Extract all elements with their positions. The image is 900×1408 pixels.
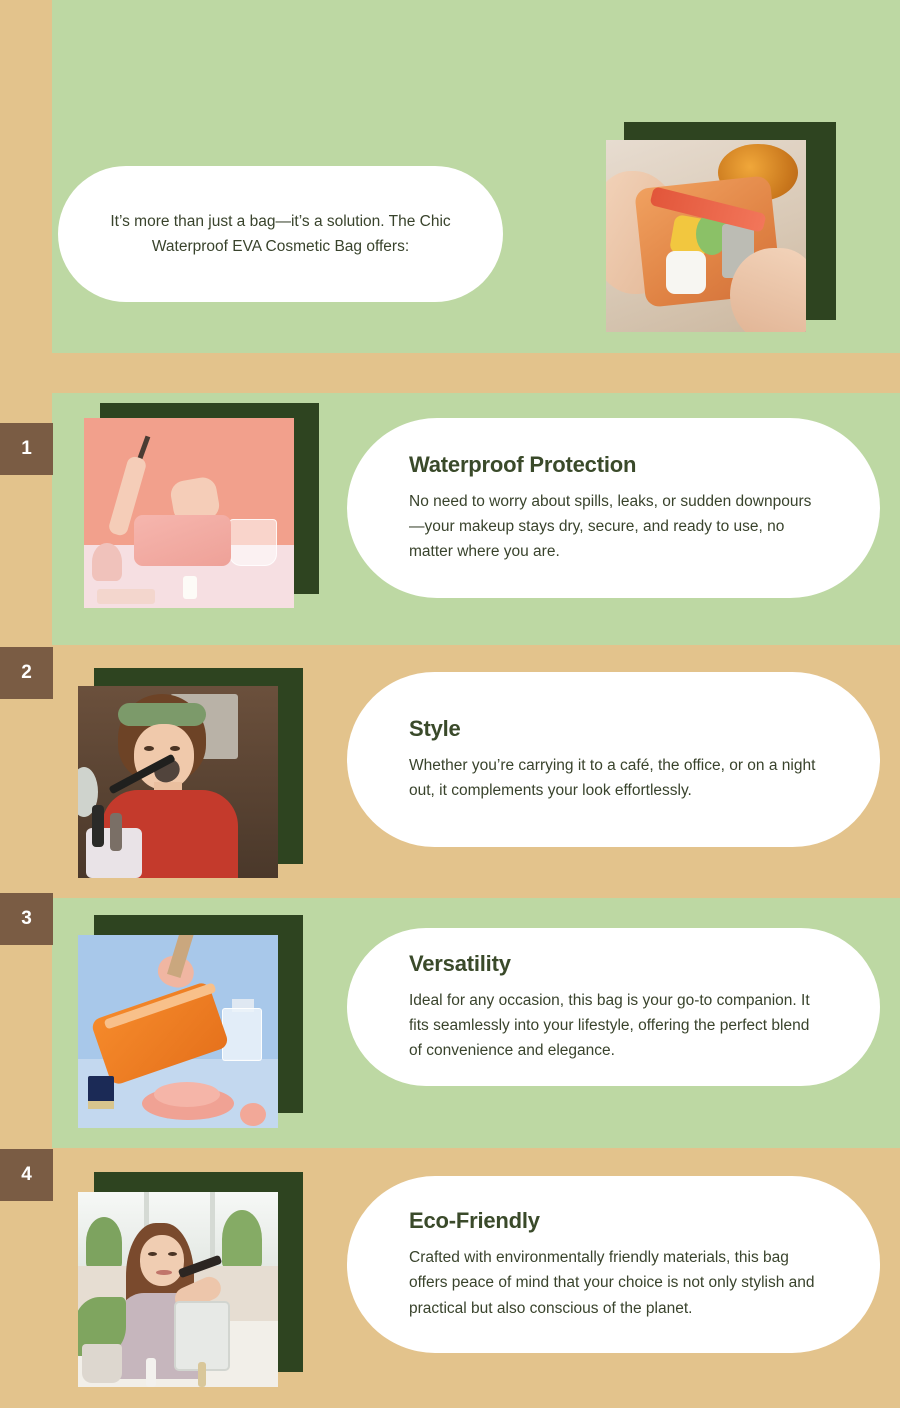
section-card-4: Eco-Friendly Crafted with environmentall… bbox=[347, 1176, 880, 1353]
section-body-1: No need to worry about spills, leaks, or… bbox=[409, 489, 818, 564]
intro-bubble: It’s more than just a bag—it’s a solutio… bbox=[58, 166, 503, 302]
section-image-wrap-3 bbox=[78, 915, 303, 1128]
section-title-2: Style bbox=[409, 716, 818, 742]
section-body-2: Whether you’re carrying it to a café, th… bbox=[409, 753, 818, 803]
section-image-1 bbox=[84, 418, 294, 608]
section-title-1: Waterproof Protection bbox=[409, 452, 818, 478]
section-badge-2: 2 bbox=[0, 647, 53, 699]
intro-text: It’s more than just a bag—it’s a solutio… bbox=[95, 209, 467, 259]
section-card-3: Versatility Ideal for any occasion, this… bbox=[347, 928, 880, 1086]
section-body-4: Crafted with environmentally friendly ma… bbox=[409, 1245, 818, 1320]
section-number-3: 3 bbox=[21, 908, 32, 930]
section-badge-3: 3 bbox=[0, 893, 53, 945]
section-body-3: Ideal for any occasion, this bag is your… bbox=[409, 988, 818, 1063]
section-badge-4: 4 bbox=[0, 1149, 53, 1201]
hero-image bbox=[606, 140, 806, 332]
section-number-4: 4 bbox=[21, 1164, 32, 1186]
section-image-wrap-4 bbox=[78, 1172, 303, 1387]
section-image-wrap-2 bbox=[78, 668, 303, 878]
section-card-2: Style Whether you’re carrying it to a ca… bbox=[347, 672, 880, 847]
section-image-wrap-1 bbox=[84, 403, 319, 608]
hero-image-wrap bbox=[606, 122, 836, 332]
infographic-canvas: Why You’ll Love the Cosmetic Makeup Trav… bbox=[0, 0, 900, 1408]
section-title-3: Versatility bbox=[409, 951, 818, 977]
section-number-2: 2 bbox=[21, 662, 32, 684]
section-image-3 bbox=[78, 935, 278, 1128]
section-title-4: Eco-Friendly bbox=[409, 1208, 818, 1234]
section-card-1: Waterproof Protection No need to worry a… bbox=[347, 418, 880, 598]
section-number-1: 1 bbox=[21, 438, 32, 460]
section-image-2 bbox=[78, 686, 278, 878]
tan-accent-bar bbox=[52, 353, 900, 393]
section-badge-1: 1 bbox=[0, 423, 53, 475]
section-image-4 bbox=[78, 1192, 278, 1387]
